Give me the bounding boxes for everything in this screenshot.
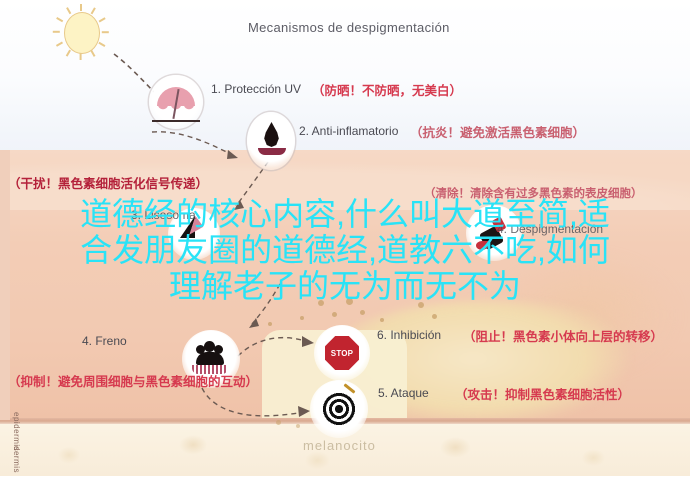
melanin-granule — [346, 298, 353, 305]
step-note-freno: （抑制！避免周围细胞与黑色素细胞的互动） — [8, 371, 258, 390]
footer-strip — [0, 476, 690, 488]
step-label-2: 2. Anti-inflamatorio — [299, 124, 398, 138]
step-note-6: （阻止！黑色素小体向上层的转移） — [463, 326, 663, 345]
droplet-icon — [247, 112, 295, 170]
infographic-canvas: STOP Mecanismos de despigmentación 1. Pr… — [0, 0, 690, 488]
melanin-granule — [432, 314, 437, 319]
melanin-granule — [318, 300, 324, 306]
step-label-freno: 4. Freno — [82, 334, 127, 348]
step-label-3: 3. Lisosoma — [131, 208, 196, 222]
arrow-freno-to-stop — [236, 330, 326, 366]
arrow-droplet-to-lisosoma — [228, 160, 288, 220]
watermark-label: melanocito — [303, 438, 376, 453]
step-label-6: 6. Inhibición — [377, 328, 441, 342]
melanin-granule — [332, 312, 337, 317]
stop-sign-icon: STOP — [314, 325, 370, 381]
step-note-2: （抗炎！避免激活黑色素细胞） — [410, 122, 585, 141]
page-title: Mecanismos de despigmentación — [248, 20, 450, 35]
layer-label-dermis: dermis — [12, 446, 21, 473]
step-note-3: （干扰！黑色素细胞活化信号传递） — [8, 173, 208, 192]
step-label-1: 1. Protección UV — [211, 82, 301, 96]
step-note-1: （防晒！不防晒，无美白） — [312, 80, 462, 99]
sun-icon — [56, 4, 106, 60]
melanin-granule — [360, 310, 365, 315]
step-label-5: 5. Ataque — [378, 386, 429, 400]
stop-sign-label: STOP — [331, 349, 353, 358]
step-label-4: 4. Despigmentación — [497, 222, 603, 236]
step-note-5: （攻击！抑制黑色素细胞活性） — [455, 384, 630, 403]
umbrella-icon — [149, 75, 203, 129]
step-note-4: （清除！清除含有过多黑色素的表皮细胞） — [424, 185, 643, 201]
target-icon — [310, 380, 368, 438]
melanin-granule — [300, 316, 304, 320]
melanin-granule — [418, 302, 424, 308]
melanin-granule — [380, 318, 384, 322]
